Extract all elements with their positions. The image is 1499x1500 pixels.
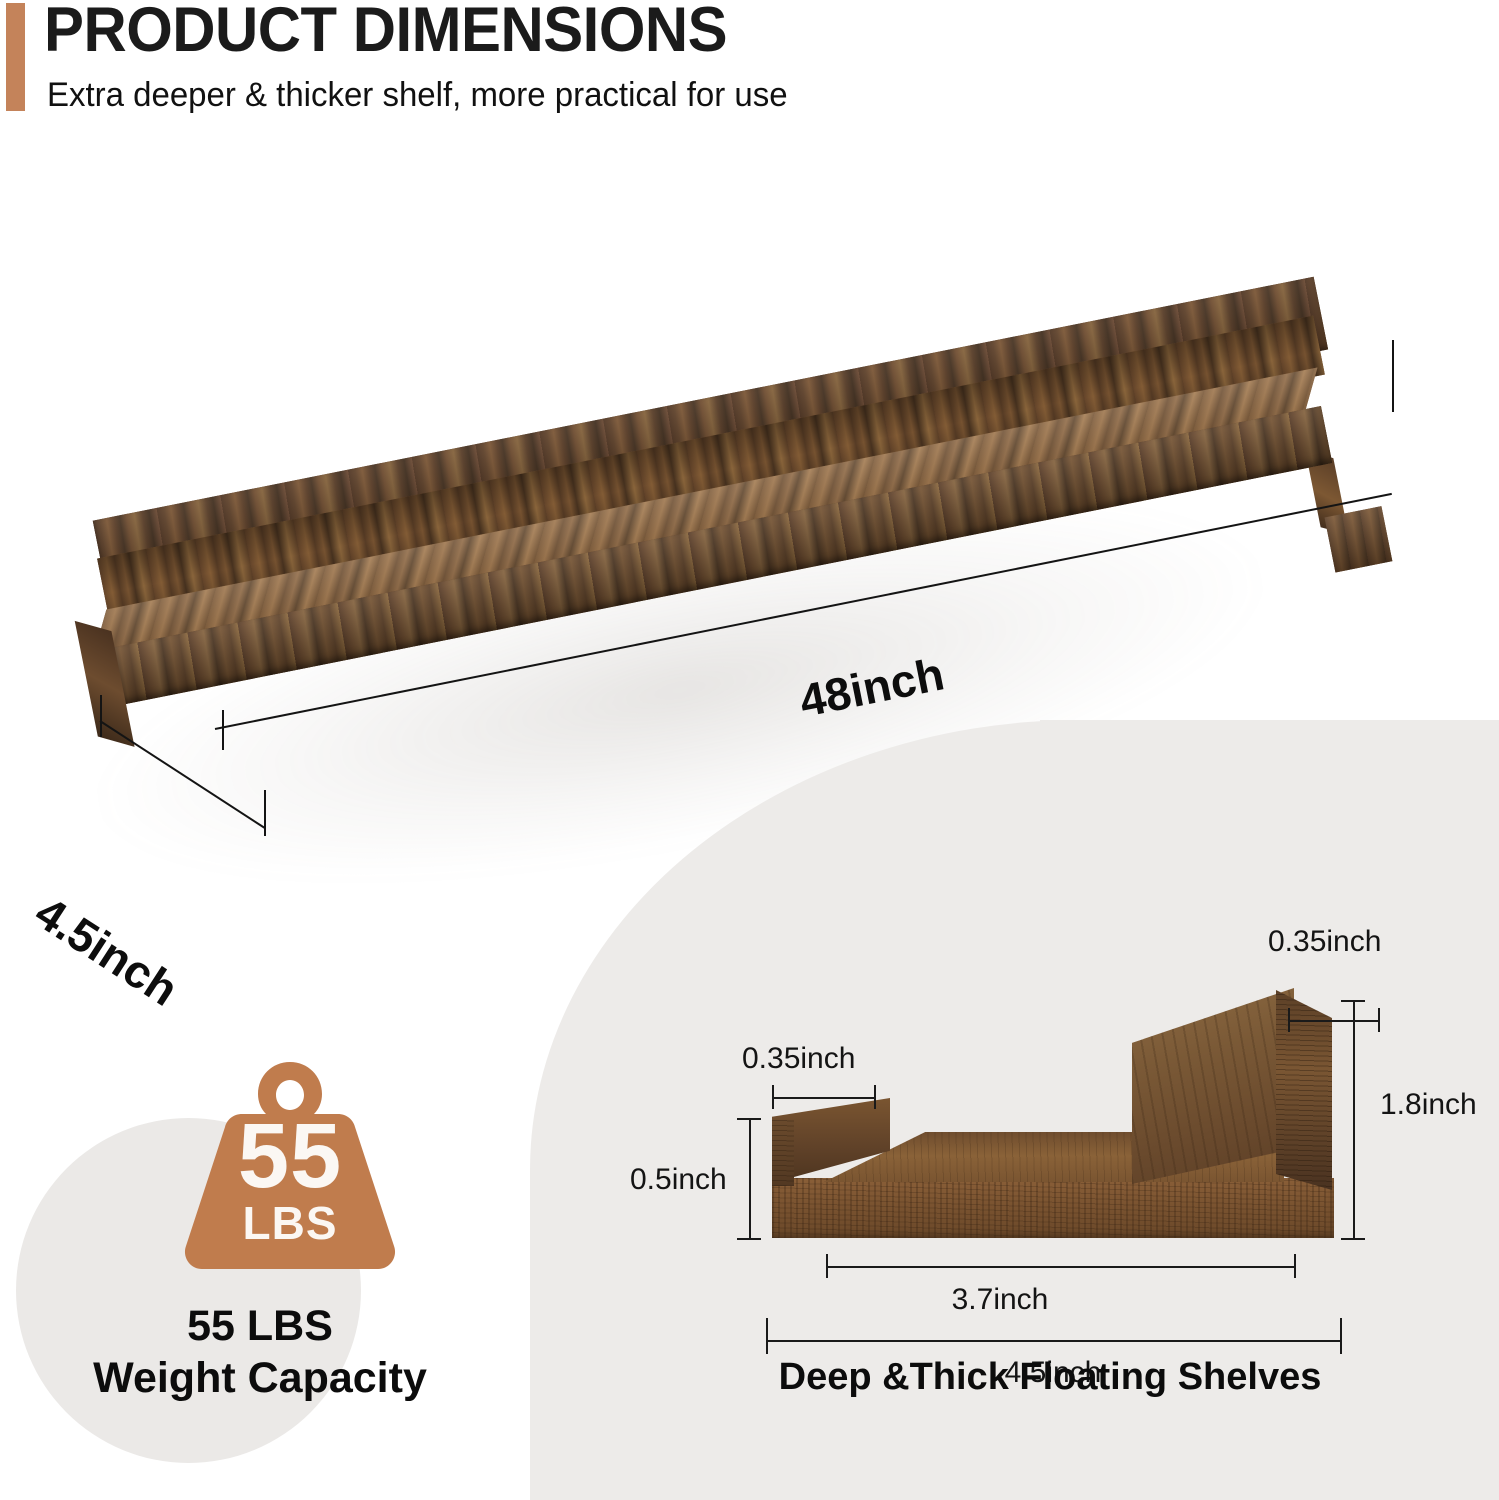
front-lip-thickness-line [772,1097,876,1099]
back-wall-thickness-tick-left [1288,1008,1290,1032]
shelf-right-lip-tab [1325,506,1393,572]
back-wall-thickness-label: 0.35inch [1268,925,1381,959]
front-lip-height-tick-top [737,1118,761,1120]
weight-icon-unit: LBS [176,1200,404,1246]
weight-capacity-caption: 55 LBS Weight Capacity [0,1300,520,1405]
weight-icon: 55 LBS [176,1058,404,1273]
header-accent-bar [6,3,25,111]
total-depth-line [766,1340,1342,1342]
inner-width-tick-right [1294,1254,1296,1278]
inner-width-label: 3.7inch [952,1283,1049,1317]
cross-section-front-lip-side [772,1120,794,1186]
inner-width-tick-left [826,1254,828,1278]
depth-dimension-tick-top [100,695,102,737]
back-wall-thickness-tick-right [1378,1008,1380,1032]
cross-section-base-slab [772,1178,1334,1238]
base-wood-grain [772,1178,1334,1238]
back-wall-thickness-line [1288,1020,1380,1022]
cross-section-caption: Deep &Thick Floating Shelves [640,1356,1460,1399]
total-depth-tick-left [766,1318,768,1354]
cross-section-panel-background-fill-bottom [530,1300,1499,1500]
front-lip-thickness-tick-left [772,1085,774,1109]
back-wall-height-tick-bottom [1341,1238,1365,1240]
back-wall-height-tick-top [1341,1000,1365,1002]
inner-width-line [826,1266,1296,1268]
front-lip-height-line [749,1118,751,1240]
weight-icon-value: 55 [176,1110,404,1202]
product-dimensions-infographic: PRODUCT DIMENSIONS Extra deeper & thicke… [0,0,1499,1500]
front-lip-height-label: 0.5inch [630,1163,727,1197]
lip-side-texture [772,1120,794,1186]
length-dimension-tick-left [222,710,224,750]
page-title: PRODUCT DIMENSIONS [44,0,727,66]
length-dimension-tick-right [1392,340,1394,412]
total-depth-tick-right [1340,1318,1342,1354]
back-wall-height-line [1353,1000,1355,1240]
front-lip-height-tick-bottom [737,1238,761,1240]
depth-dimension-tick-bottom [264,790,266,836]
front-lip-thickness-tick-right [874,1085,876,1109]
back-wall-height-label: 1.8inch [1380,1088,1477,1122]
shelf-cross-section-drawing [760,980,1360,1270]
front-lip-thickness-label: 0.35inch [742,1042,855,1076]
page-subtitle: Extra deeper & thicker shelf, more pract… [47,76,788,115]
